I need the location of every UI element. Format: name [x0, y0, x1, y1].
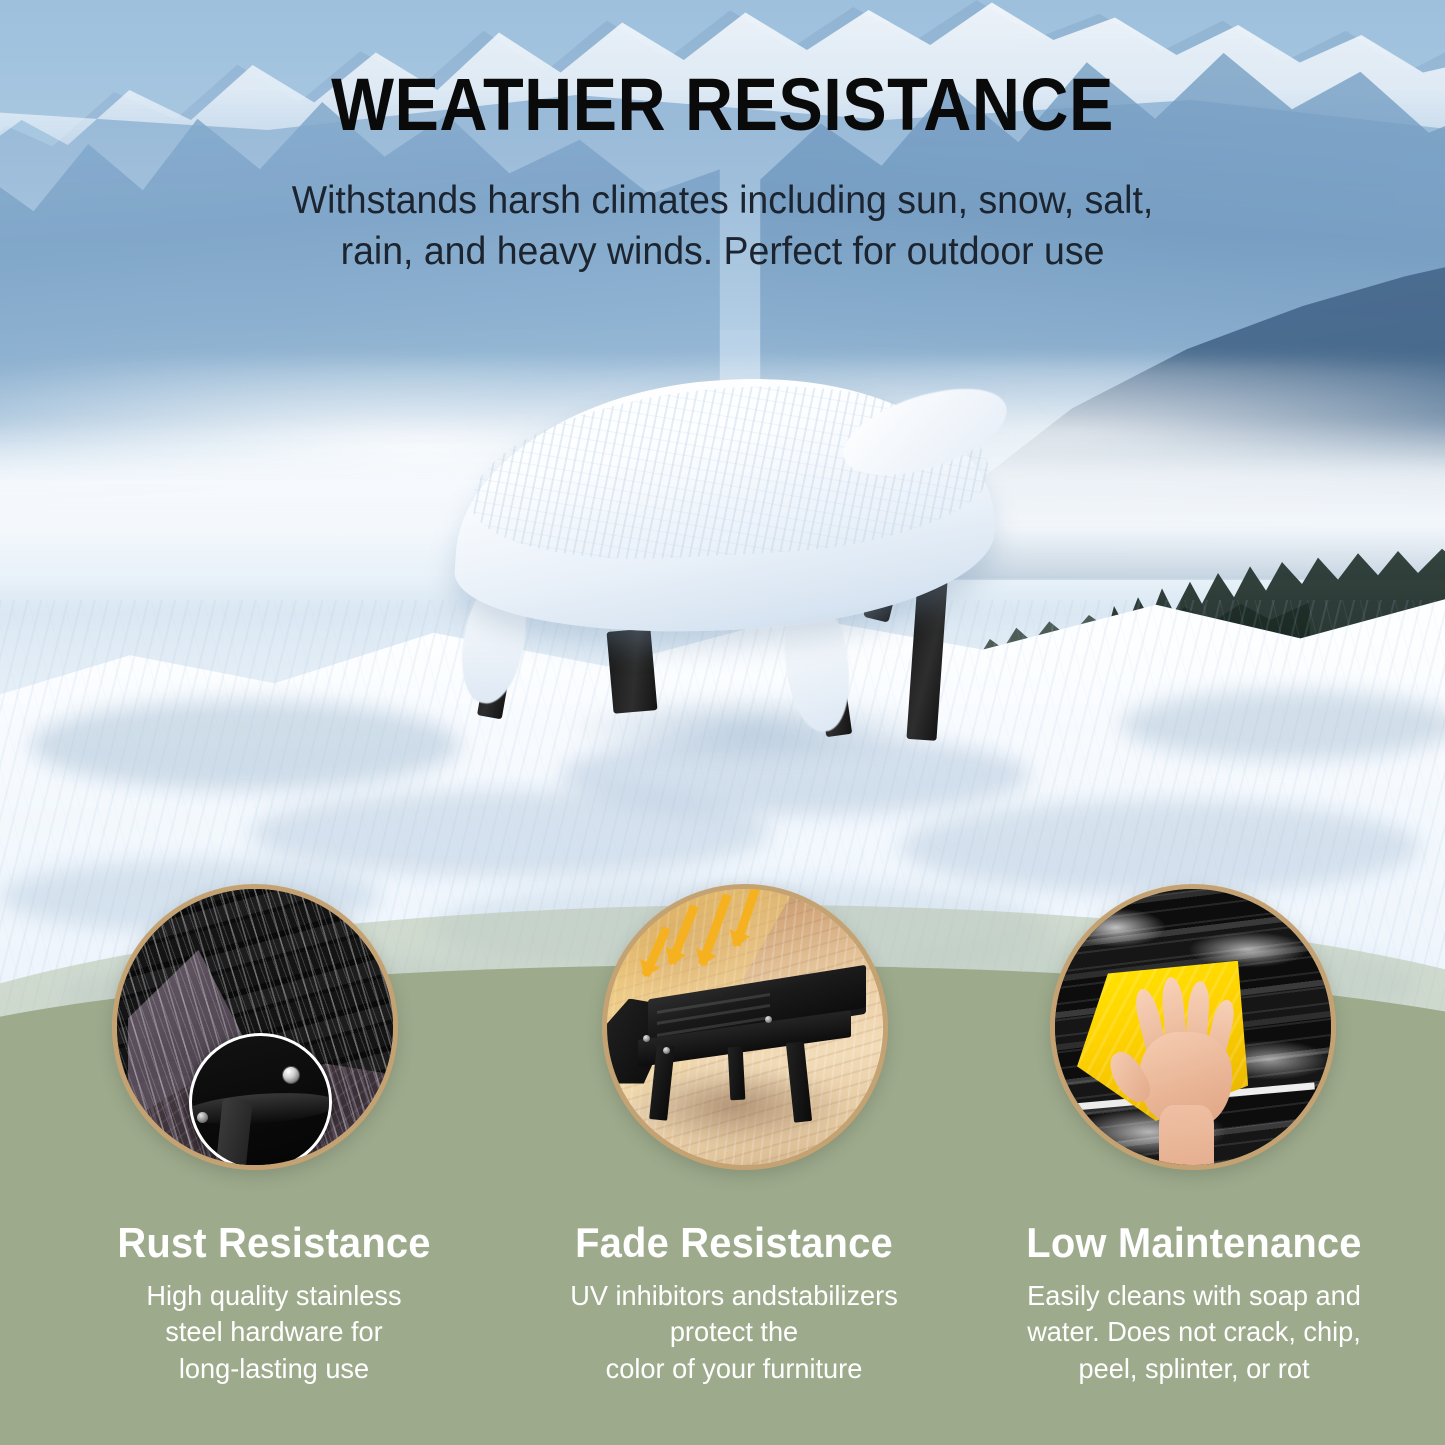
feature-body-line: peel, splinter, or rot	[967, 1351, 1421, 1387]
feature-body-line: High quality stainless	[47, 1278, 501, 1314]
feature-title: Fade Resistance	[512, 1222, 957, 1264]
bench-leg-icon	[728, 1047, 746, 1101]
inset-edge-icon	[189, 1088, 333, 1128]
feature-body-line: color of your furniture	[507, 1351, 961, 1387]
subtitle-line-2: rain, and heavy winds. Perfect for outdo…	[29, 227, 1416, 278]
feature-body-line: Easily cleans with soap and	[967, 1278, 1421, 1314]
feature-body-line: steel hardware for	[47, 1314, 501, 1350]
feature-image-fade-resistance	[602, 884, 888, 1170]
inset-post-icon	[215, 1097, 253, 1170]
rust-scene	[117, 889, 393, 1165]
forearm-icon	[1159, 1105, 1214, 1170]
product-feature-banner: WEATHER RESISTANCE Withstands harsh clim…	[0, 0, 1445, 1445]
screw-icon	[765, 1016, 772, 1023]
feature-image-low-maintenance	[1050, 884, 1336, 1170]
feature-caption-rust-resistance: Rust Resistance High quality stainless s…	[40, 1222, 508, 1387]
feature-body: Easily cleans with soap and water. Does …	[967, 1278, 1421, 1387]
subtitle-line-1: Withstands harsh climates including sun,…	[29, 176, 1416, 227]
feature-body-line: long-lasting use	[47, 1351, 501, 1387]
feature-body-line: water. Does not crack, chip,	[967, 1314, 1421, 1350]
feature-caption-low-maintenance: Low Maintenance Easily cleans with soap …	[960, 1222, 1428, 1387]
feature-body-line: protect the	[507, 1314, 961, 1350]
page-title: WEATHER RESISTANCE	[72, 68, 1373, 142]
feature-body-line: UV inhibitors andstabilizers	[507, 1278, 961, 1314]
feature-title: Low Maintenance	[972, 1222, 1417, 1264]
stainless-screw-icon	[283, 1067, 299, 1083]
feature-image-rust-resistance	[112, 884, 398, 1170]
black-bench-icon	[613, 972, 867, 1093]
ottoman-leg-icon	[607, 628, 658, 714]
hero-product-image	[430, 380, 1050, 770]
feature-body: High quality stainless steel hardware fo…	[47, 1278, 501, 1387]
feature-title: Rust Resistance	[52, 1222, 497, 1264]
feature-caption-fade-resistance: Fade Resistance UV inhibitors andstabili…	[500, 1222, 968, 1387]
screw-icon	[643, 1035, 650, 1042]
screw-closeup-inset	[189, 1033, 333, 1170]
hand-icon	[1132, 977, 1242, 1159]
cleaning-scene	[1055, 889, 1331, 1165]
fade-scene	[607, 889, 883, 1165]
feature-body: UV inhibitors andstabilizers protect the…	[507, 1278, 961, 1387]
page-subtitle: Withstands harsh climates including sun,…	[29, 176, 1416, 277]
